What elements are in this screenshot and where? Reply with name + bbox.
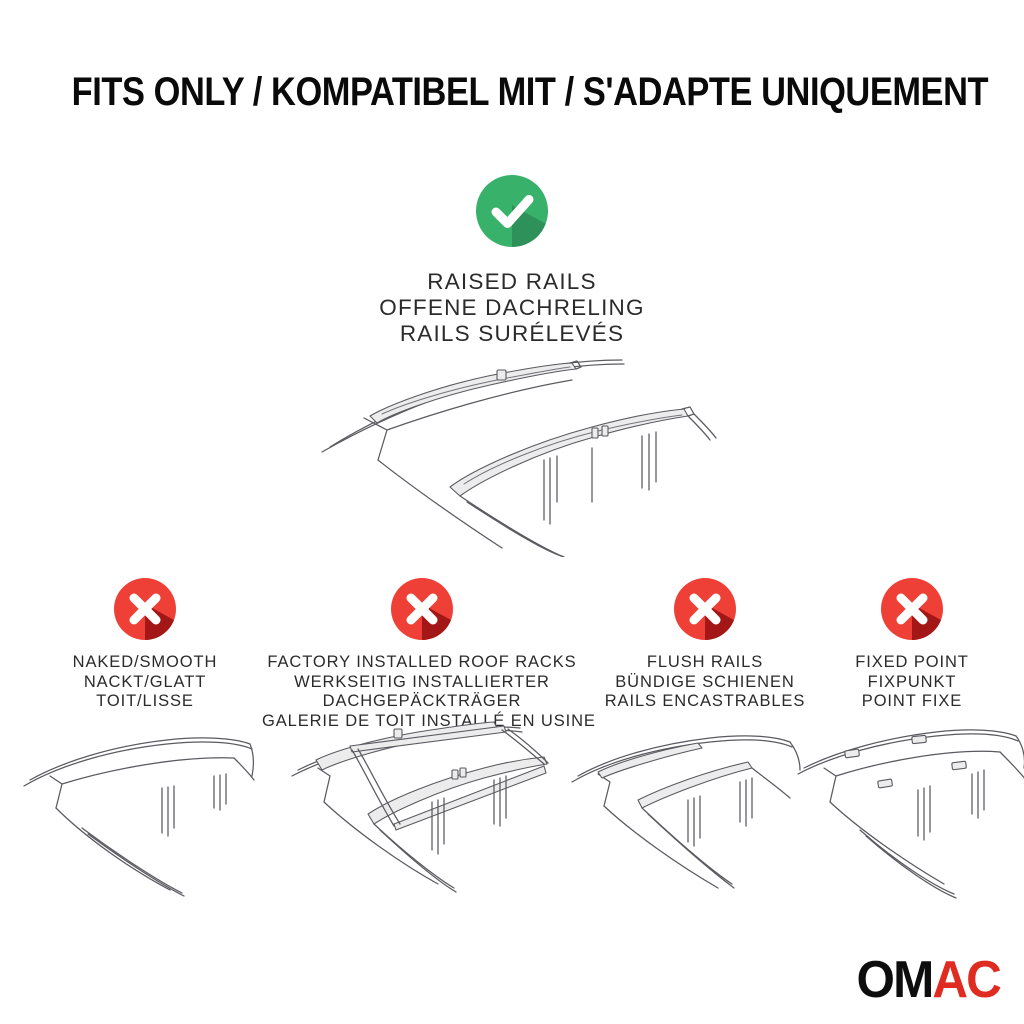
rejected-labels: FLUSH RAILS BÜNDIGE SCHIENEN RAILS ENCAS… bbox=[595, 653, 815, 712]
x-circle-icon bbox=[881, 578, 943, 640]
fitment-info-graphic: FITS ONLY / KOMPATIBEL MIT / S'ADAPTE UN… bbox=[0, 0, 1024, 1024]
rejected-labels: NAKED/SMOOTH NACKT/GLATT TOIT/LISSE bbox=[25, 653, 265, 712]
car-roof-flush-rails-illustration bbox=[562, 718, 812, 903]
rejected-item-naked-smooth: NAKED/SMOOTH NACKT/GLATT TOIT/LISSE bbox=[25, 578, 265, 712]
x-circle-icon bbox=[674, 578, 736, 640]
rejected-label-en: NAKED/SMOOTH bbox=[25, 653, 265, 673]
rejected-label-en: FIXED POINT bbox=[822, 653, 1002, 673]
x-circle-icon bbox=[114, 578, 176, 640]
rejected-label-fr: RAILS ENCASTRABLES bbox=[595, 692, 815, 712]
x-circle-icon bbox=[391, 578, 453, 640]
car-roof-factory-racks-illustration bbox=[272, 718, 554, 903]
approved-label-en: RAISED RAILS bbox=[0, 269, 1024, 295]
rejected-label-de: NACKT/GLATT bbox=[25, 673, 265, 693]
car-roof-naked-illustration bbox=[2, 718, 264, 903]
rejected-item-fixed-point: FIXED POINT FIXPUNKT POINT FIXE bbox=[822, 578, 1002, 712]
rejected-label-de: FIXPUNKT bbox=[822, 673, 1002, 693]
car-roof-raised-rails-illustration bbox=[292, 352, 722, 557]
rejected-item-flush-rails: FLUSH RAILS BÜNDIGE SCHIENEN RAILS ENCAS… bbox=[595, 578, 815, 712]
rejected-label-de: BÜNDIGE SCHIENEN bbox=[595, 673, 815, 693]
approved-label-de: OFFENE DACHRELING bbox=[0, 295, 1024, 321]
approved-fitment-block: RAISED RAILS OFFENE DACHRELING RAILS SUR… bbox=[0, 175, 1024, 347]
rejected-options-row: NAKED/SMOOTH NACKT/GLATT TOIT/LISSE FACT… bbox=[0, 578, 1024, 728]
approved-labels: RAISED RAILS OFFENE DACHRELING RAILS SUR… bbox=[0, 269, 1024, 347]
approved-label-fr: RAILS SURÉLEVÉS bbox=[0, 321, 1024, 347]
logo-text-ac: AC bbox=[932, 951, 1000, 1009]
check-circle-icon bbox=[476, 175, 548, 247]
rejected-labels: FIXED POINT FIXPUNKT POINT FIXE bbox=[822, 653, 1002, 712]
rejected-illustrations-row bbox=[0, 718, 1024, 908]
rejected-label-en: FLUSH RAILS bbox=[595, 653, 815, 673]
page-title: FITS ONLY / KOMPATIBEL MIT / S'ADAPTE UN… bbox=[72, 70, 953, 115]
rejected-label-de2: DACHGEPÄCKTRÄGER bbox=[262, 692, 582, 712]
rejected-label-de: WERKSEITIG INSTALLIERTER bbox=[262, 673, 582, 693]
logo-text-om: OM bbox=[857, 951, 933, 1009]
rejected-label-en: FACTORY INSTALLED ROOF RACKS bbox=[262, 653, 582, 673]
car-roof-fixed-point-illustration bbox=[790, 718, 1024, 903]
rejected-label-fr: POINT FIXE bbox=[822, 692, 1002, 712]
rejected-item-factory-installed-roof-racks: FACTORY INSTALLED ROOF RACKS WERKSEITIG … bbox=[262, 578, 582, 731]
omac-logo: OMAC bbox=[857, 954, 1000, 1006]
rejected-label-fr: TOIT/LISSE bbox=[25, 692, 265, 712]
